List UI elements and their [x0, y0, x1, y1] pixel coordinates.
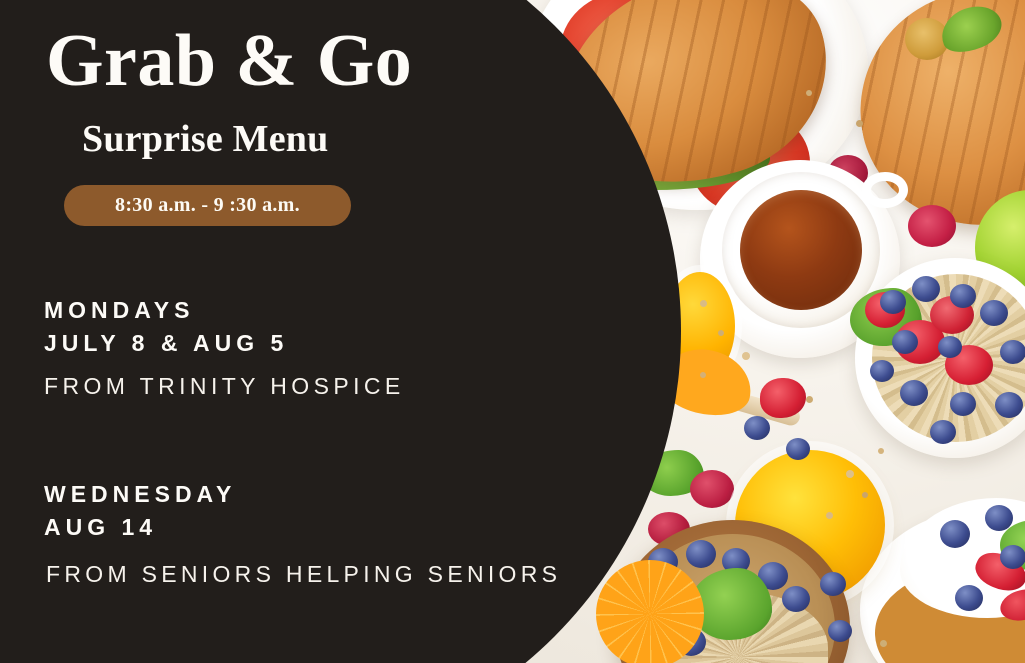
poster-content: Grab & Go Surprise Menu 8:30 a.m. - 9 :3… — [0, 0, 1025, 663]
schedule-block-monday: MONDAYS JULY 8 & AUG 5 — [44, 294, 288, 359]
time-badge: 8:30 a.m. - 9 :30 a.m. — [64, 185, 351, 226]
page-title: Grab & Go — [46, 24, 412, 98]
schedule-day: MONDAYS — [44, 294, 288, 327]
poster: Grab & Go Surprise Menu 8:30 a.m. - 9 :3… — [0, 0, 1025, 663]
subtitle: Surprise Menu — [82, 120, 328, 158]
schedule-provider-monday: FROM TRINITY HOSPICE — [44, 373, 405, 400]
schedule-dates: JULY 8 & AUG 5 — [44, 327, 288, 360]
time-badge-label: 8:30 a.m. - 9 :30 a.m. — [115, 194, 300, 217]
schedule-block-wednesday: WEDNESDAY AUG 14 — [44, 478, 236, 543]
schedule-day: WEDNESDAY — [44, 478, 236, 511]
schedule-dates: AUG 14 — [44, 511, 236, 544]
schedule-provider-wednesday: FROM SENIORS HELPING SENIORS — [46, 561, 561, 588]
